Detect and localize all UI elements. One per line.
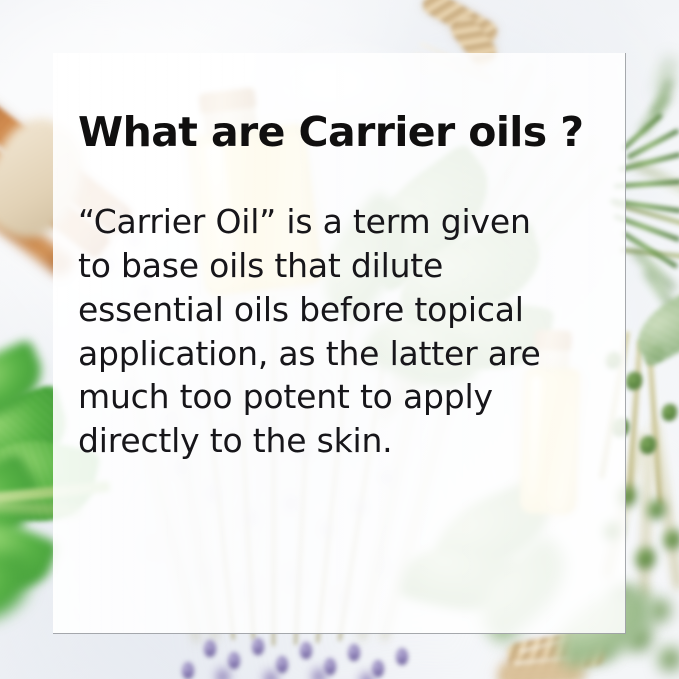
page-title: What are Carrier oils ? (78, 110, 618, 156)
text-block: What are Carrier oils ? “Carrier Oil” is… (78, 110, 618, 463)
body-line: much too potent to apply (78, 375, 598, 419)
body-line: essential oils before topical (78, 288, 598, 332)
image-canvas: What are Carrier oils ? “Carrier Oil” is… (0, 0, 679, 679)
body-line: to base oils that dilute (78, 244, 598, 288)
body-paragraph: “Carrier Oil” is a term given to base oi… (78, 156, 598, 463)
body-line: application, as the latter are (78, 332, 598, 376)
body-line: directly to the skin. (78, 419, 598, 463)
body-line: “Carrier Oil” is a term given (78, 200, 598, 244)
